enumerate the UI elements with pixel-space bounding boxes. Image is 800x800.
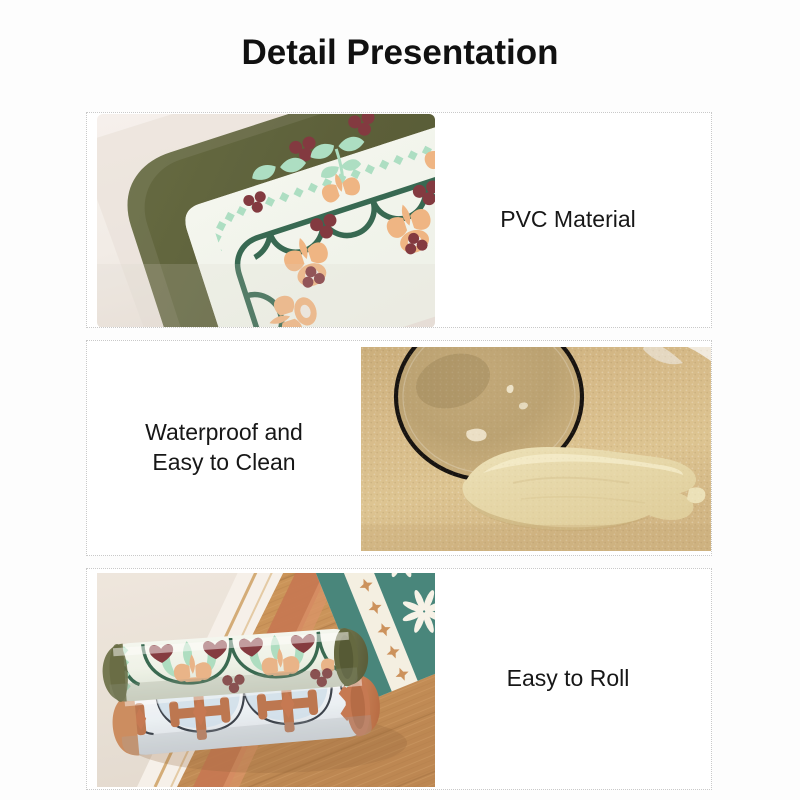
pvc-material-corner-photo [87,113,435,327]
detail-presentation-page: Detail Presentation [0,0,800,800]
caption-text: Waterproof and Easy to Clean [145,418,303,478]
pvc-material-caption-cell: PVC Material [435,113,711,327]
detail-panel-easy-to-roll: Easy to Roll [86,568,712,790]
detail-panel-pvc-material: PVC Material [86,112,712,328]
easy-to-roll-photo [87,569,435,789]
caption-text: Easy to Roll [507,664,630,694]
waterproof-spill-photo [361,341,711,555]
page-title: Detail Presentation [0,33,800,73]
easy-to-roll-caption-cell: Easy to Roll [435,569,711,789]
detail-panel-waterproof: Waterproof and Easy to Clean [86,340,712,556]
waterproof-caption-cell: Waterproof and Easy to Clean [87,341,361,555]
caption-text: PVC Material [500,205,635,235]
